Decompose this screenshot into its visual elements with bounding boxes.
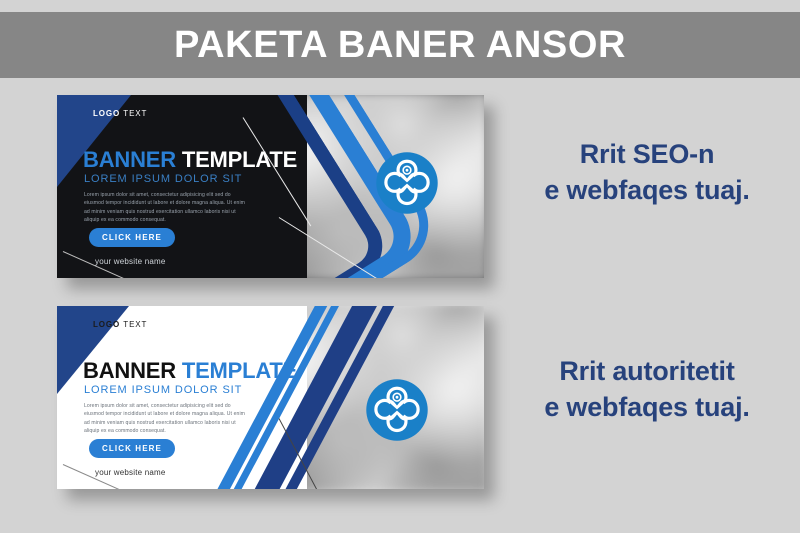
banner-title: BANNER TEMPLATE — [83, 147, 297, 173]
banner-subtitle: LOREM IPSUM DOLOR SIT — [84, 384, 242, 396]
quatrefoil-emblem-icon — [375, 151, 439, 215]
click-here-button[interactable]: CLICK HERE — [89, 439, 175, 458]
banner-logo-strong: LOGO — [93, 109, 120, 118]
click-here-button[interactable]: CLICK HERE — [89, 228, 175, 247]
banner-logo-strong: LOGO — [93, 320, 120, 329]
banner-website-label: your website name — [95, 257, 166, 266]
promo-line-1: Rrit autoritetit — [497, 353, 797, 389]
promo-text-authority: Rrit autoritetit e webfaqes tuaj. — [497, 353, 797, 425]
banner-website-label: your website name — [95, 468, 166, 477]
banner-title: BANNER TEMPLATE — [83, 358, 297, 384]
page-title: PAKETA BANER ANSOR — [174, 24, 626, 67]
banner-paragraph: Lorem ipsum dolor sit amet, consectetur … — [84, 402, 252, 436]
promo-text-seo: Rrit SEO-n e webfaqes tuaj. — [497, 136, 797, 208]
banner-logo-light: TEXT — [123, 320, 147, 329]
promo-line-1: Rrit SEO-n — [497, 136, 797, 172]
banner-title-part-b: TEMPLATE — [182, 147, 297, 172]
banner-logo-light: TEXT — [123, 109, 147, 118]
banner-title-part-a: BANNER — [83, 358, 182, 383]
promo-line-2: e webfaqes tuaj. — [497, 389, 797, 425]
page-background: PAKETA BANER ANSOR LOGO TEXT B — [0, 0, 800, 533]
banner-logo-text: LOGO TEXT — [93, 109, 147, 118]
banner-card-dark[interactable]: LOGO TEXT BANNER TEMPLATE LOREM IPSUM DO… — [57, 95, 484, 278]
banner-paragraph: Lorem ipsum dolor sit amet, consectetur … — [84, 191, 252, 225]
quatrefoil-emblem-icon — [365, 378, 429, 442]
banner-dark-content: LOGO TEXT BANNER TEMPLATE LOREM IPSUM DO… — [57, 95, 307, 278]
banner-logo-text: LOGO TEXT — [93, 320, 147, 329]
banner-subtitle: LOREM IPSUM DOLOR SIT — [84, 173, 242, 185]
promo-line-2: e webfaqes tuaj. — [497, 172, 797, 208]
banner-light-content: LOGO TEXT BANNER TEMPLATE LOREM IPSUM DO… — [57, 306, 307, 489]
banner-card-light[interactable]: LOGO TEXT BANNER TEMPLATE LOREM IPSUM DO… — [57, 306, 484, 489]
banner-title-part-b: TEMPLATE — [182, 358, 297, 383]
header-band: PAKETA BANER ANSOR — [0, 12, 800, 78]
banner-title-part-a: BANNER — [83, 147, 182, 172]
